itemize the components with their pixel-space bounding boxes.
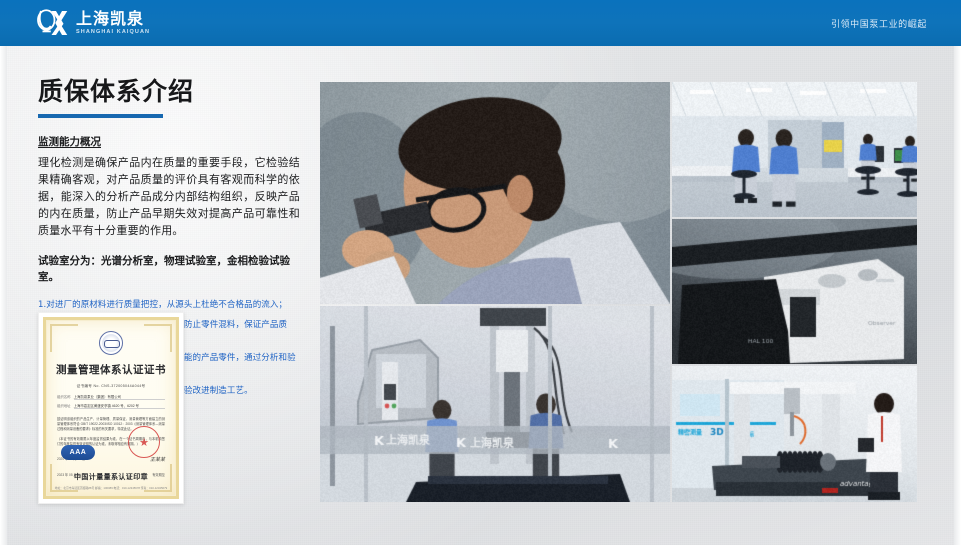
- slide-right-edge: [954, 0, 961, 545]
- spectrometer-closeup-photo: [672, 219, 917, 364]
- intro-paragraph: 理化检测是确保产品内在质量的重要手段，它检验结果精确客观，对产品质量的评价具有客…: [38, 154, 300, 239]
- certificate-footer: 中国计量量系认证印章: [46, 472, 176, 482]
- page-title: 质保体系介绍: [38, 72, 300, 108]
- certificate-emblem-icon: [99, 331, 123, 355]
- certificate-corner-ornament: [144, 324, 172, 352]
- certificate-field-key: 组织名称: [57, 394, 71, 400]
- brand-name-en: SHANGHAI KAIQUAN: [76, 30, 150, 36]
- certificate-red-stamp-icon: ★: [128, 426, 160, 458]
- photo-collage: [320, 82, 917, 502]
- certificate-field-key: 组织地址: [57, 403, 71, 409]
- list-item: 1.对进厂的原材料进行质量把控，从源头上杜绝不合格品的流入；: [38, 299, 300, 313]
- certificate-fields: 组织名称 上海凯泉泵业（集团）有限公司 组织地址 上海市嘉定区黄渡安亭镇 462…: [57, 394, 165, 412]
- certificate-image: 测量管理体系认证证书 证书编号 No. CNS-372005044A044号 组…: [38, 312, 184, 504]
- certificate-signature-ink: 王某某: [150, 456, 165, 463]
- certificate-aaa-badge: AAA: [61, 445, 95, 460]
- section-subheading: 监测能力概况: [38, 134, 300, 149]
- cmm-measuring-photo: [672, 366, 917, 502]
- page-header: 上海凯泉 SHANGHAI KAIQUAN 引领中国泵工业的崛起: [0, 0, 961, 46]
- laboratory-overview-photo: [672, 82, 917, 217]
- slide-left-edge: [0, 0, 7, 545]
- microscope-inspection-photo: [320, 82, 670, 304]
- certificate-number: 证书编号 No. CNS-372005044A044号: [77, 384, 146, 389]
- brand-name-cn: 上海凯泉: [76, 11, 150, 27]
- brand-logo[interactable]: 上海凯泉 SHANGHAI KAIQUAN: [36, 8, 150, 38]
- laboratory-list-line: 试验室分为：光谱分析室，物理试验室，金相检验试验室。: [38, 253, 300, 285]
- slide-root: 上海凯泉 SHANGHAI KAIQUAN 引领中国泵工业的崛起 质保体系介绍 …: [0, 0, 961, 545]
- certificate-footer-sub: 地址：北京市海淀区首都路88号 邮编：100089 电话：010-1234567…: [46, 486, 176, 490]
- header-slogan: 引领中国泵工业的崛起: [831, 0, 927, 46]
- brand-logo-text: 上海凯泉 SHANGHAI KAIQUAN: [76, 11, 150, 36]
- certificate-frame: 测量管理体系认证证书 证书编号 No. CNS-372005044A044号 组…: [43, 317, 179, 499]
- certificate-field-row: 组织名称 上海凯泉泵业（集团）有限公司: [57, 394, 165, 400]
- certificate-field-value: 上海市嘉定区黄渡安亭镇 4620 号、6202 号: [74, 403, 165, 409]
- certificate-field-row: 组织地址 上海市嘉定区黄渡安亭镇 4620 号、6202 号: [57, 403, 165, 409]
- certificate-field-value: 上海凯泉泵业（集团）有限公司: [74, 394, 165, 400]
- certificate-corner-ornament: [50, 324, 78, 352]
- certificate-title: 测量管理体系认证证书: [56, 362, 166, 377]
- title-underline-rule: [38, 114, 163, 118]
- kaiquan-logo-icon: [36, 8, 70, 38]
- material-testing-machine-photo: [320, 306, 670, 502]
